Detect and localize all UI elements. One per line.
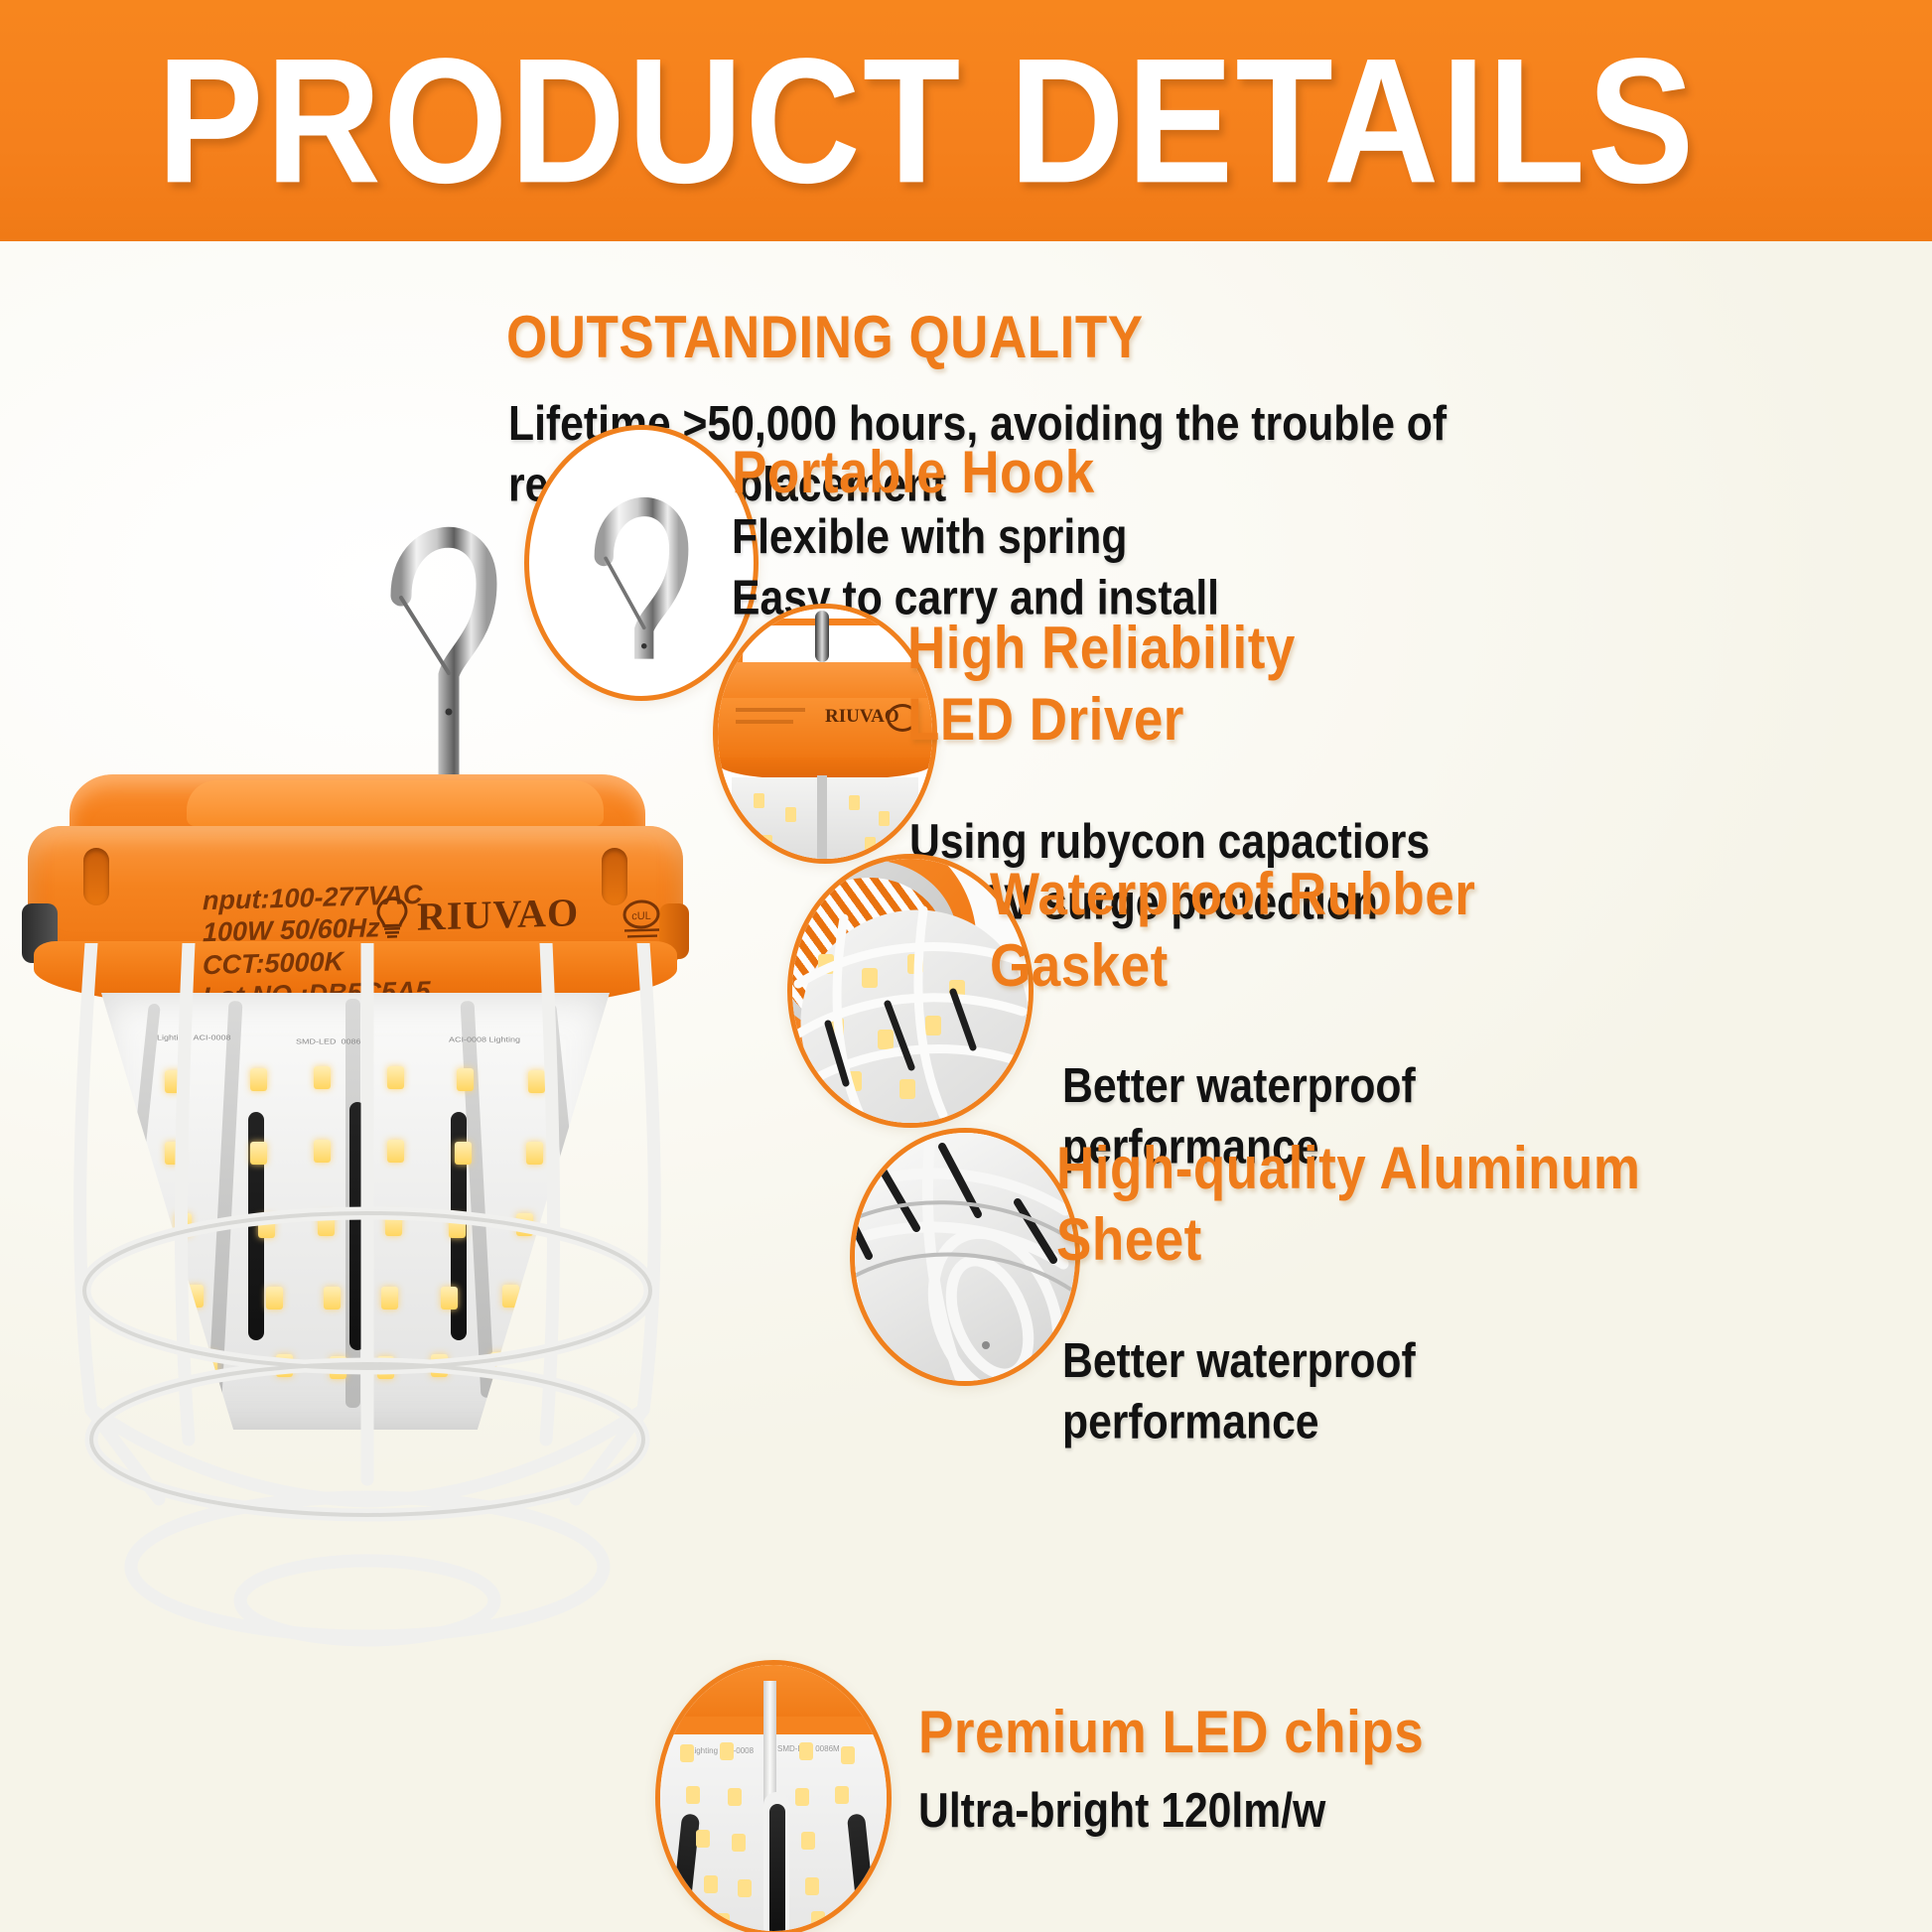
vent-slot-left bbox=[83, 848, 109, 905]
page-title: PRODUCT DETAILS bbox=[157, 32, 1696, 209]
feature-aluminum-sheet-title-1: High-quality Aluminum bbox=[1056, 1136, 1641, 1203]
feature-aluminum-sheet-text: High-quality Aluminum Sheet bbox=[1056, 1136, 1641, 1267]
feature-aluminum-sheet-line-1: Better waterproof bbox=[1062, 1330, 1416, 1392]
feature-led-chips-title: Premium LED chips bbox=[918, 1700, 1424, 1767]
vent-slot-right bbox=[602, 848, 627, 905]
svg-text:cUL: cUL bbox=[631, 910, 651, 923]
feature-led-chips-body: Ultra-bright 120lm/w bbox=[918, 1780, 1338, 1835]
feature-aluminum-sheet-body: Better waterproof performance bbox=[1062, 1330, 1427, 1441]
feature-led-driver-title-2: LED Driver bbox=[907, 687, 1296, 755]
feature-portable-hook-text: Portable Hook bbox=[732, 440, 1095, 499]
brand-mark: RIUVAO bbox=[375, 889, 579, 941]
lightbulb-icon bbox=[375, 895, 409, 939]
header-banner: PRODUCT DETAILS bbox=[0, 0, 1932, 241]
callout-led-chips: Lighting ACI-0008 SMD-LED 0086M bbox=[655, 1660, 892, 1932]
feature-led-chips-text: Premium LED chips bbox=[918, 1700, 1424, 1759]
feature-aluminum-sheet-title-2: Sheet bbox=[1056, 1207, 1641, 1275]
certification-badge-icon: cUL bbox=[616, 897, 667, 943]
product-details-infographic: PRODUCT DETAILS OUTSTANDING QUALITY Life… bbox=[0, 0, 1932, 1932]
feature-led-driver-title-1: High Reliability bbox=[907, 616, 1296, 683]
feature-led-chips-line-1: Ultra-bright 120lm/w bbox=[918, 1780, 1325, 1842]
wire-cage bbox=[40, 943, 695, 1678]
intro-heading-wrap: OUTSTANDING QUALITY bbox=[506, 305, 1144, 364]
housing-ridge bbox=[187, 780, 604, 826]
feature-rubber-gasket-title-1: Waterproof Rubber bbox=[990, 862, 1475, 929]
feature-portable-hook-line-1: Flexible with spring bbox=[732, 506, 1219, 568]
feature-aluminum-sheet-line-2: performance bbox=[1062, 1392, 1416, 1453]
callout-led-driver: RIUVAO bbox=[713, 604, 937, 864]
intro-heading: OUTSTANDING QUALITY bbox=[506, 305, 1144, 372]
feature-portable-hook-body: Flexible with spring Easy to carry and i… bbox=[732, 506, 1234, 617]
feature-rubber-gasket-title-2: Gasket bbox=[990, 933, 1475, 1001]
feature-rubber-gasket-line-1: Better waterproof bbox=[1062, 1055, 1416, 1117]
callout-aluminum-sheet bbox=[850, 1128, 1080, 1386]
feature-rubber-gasket-text: Waterproof Rubber Gasket bbox=[990, 862, 1475, 993]
hook-photo-icon bbox=[573, 467, 710, 658]
feature-led-driver-text: High Reliability LED Driver bbox=[907, 616, 1296, 747]
brand-name: RIUVAO bbox=[417, 889, 579, 940]
hook-graphic bbox=[338, 477, 536, 804]
feature-portable-hook-title: Portable Hook bbox=[732, 440, 1095, 507]
